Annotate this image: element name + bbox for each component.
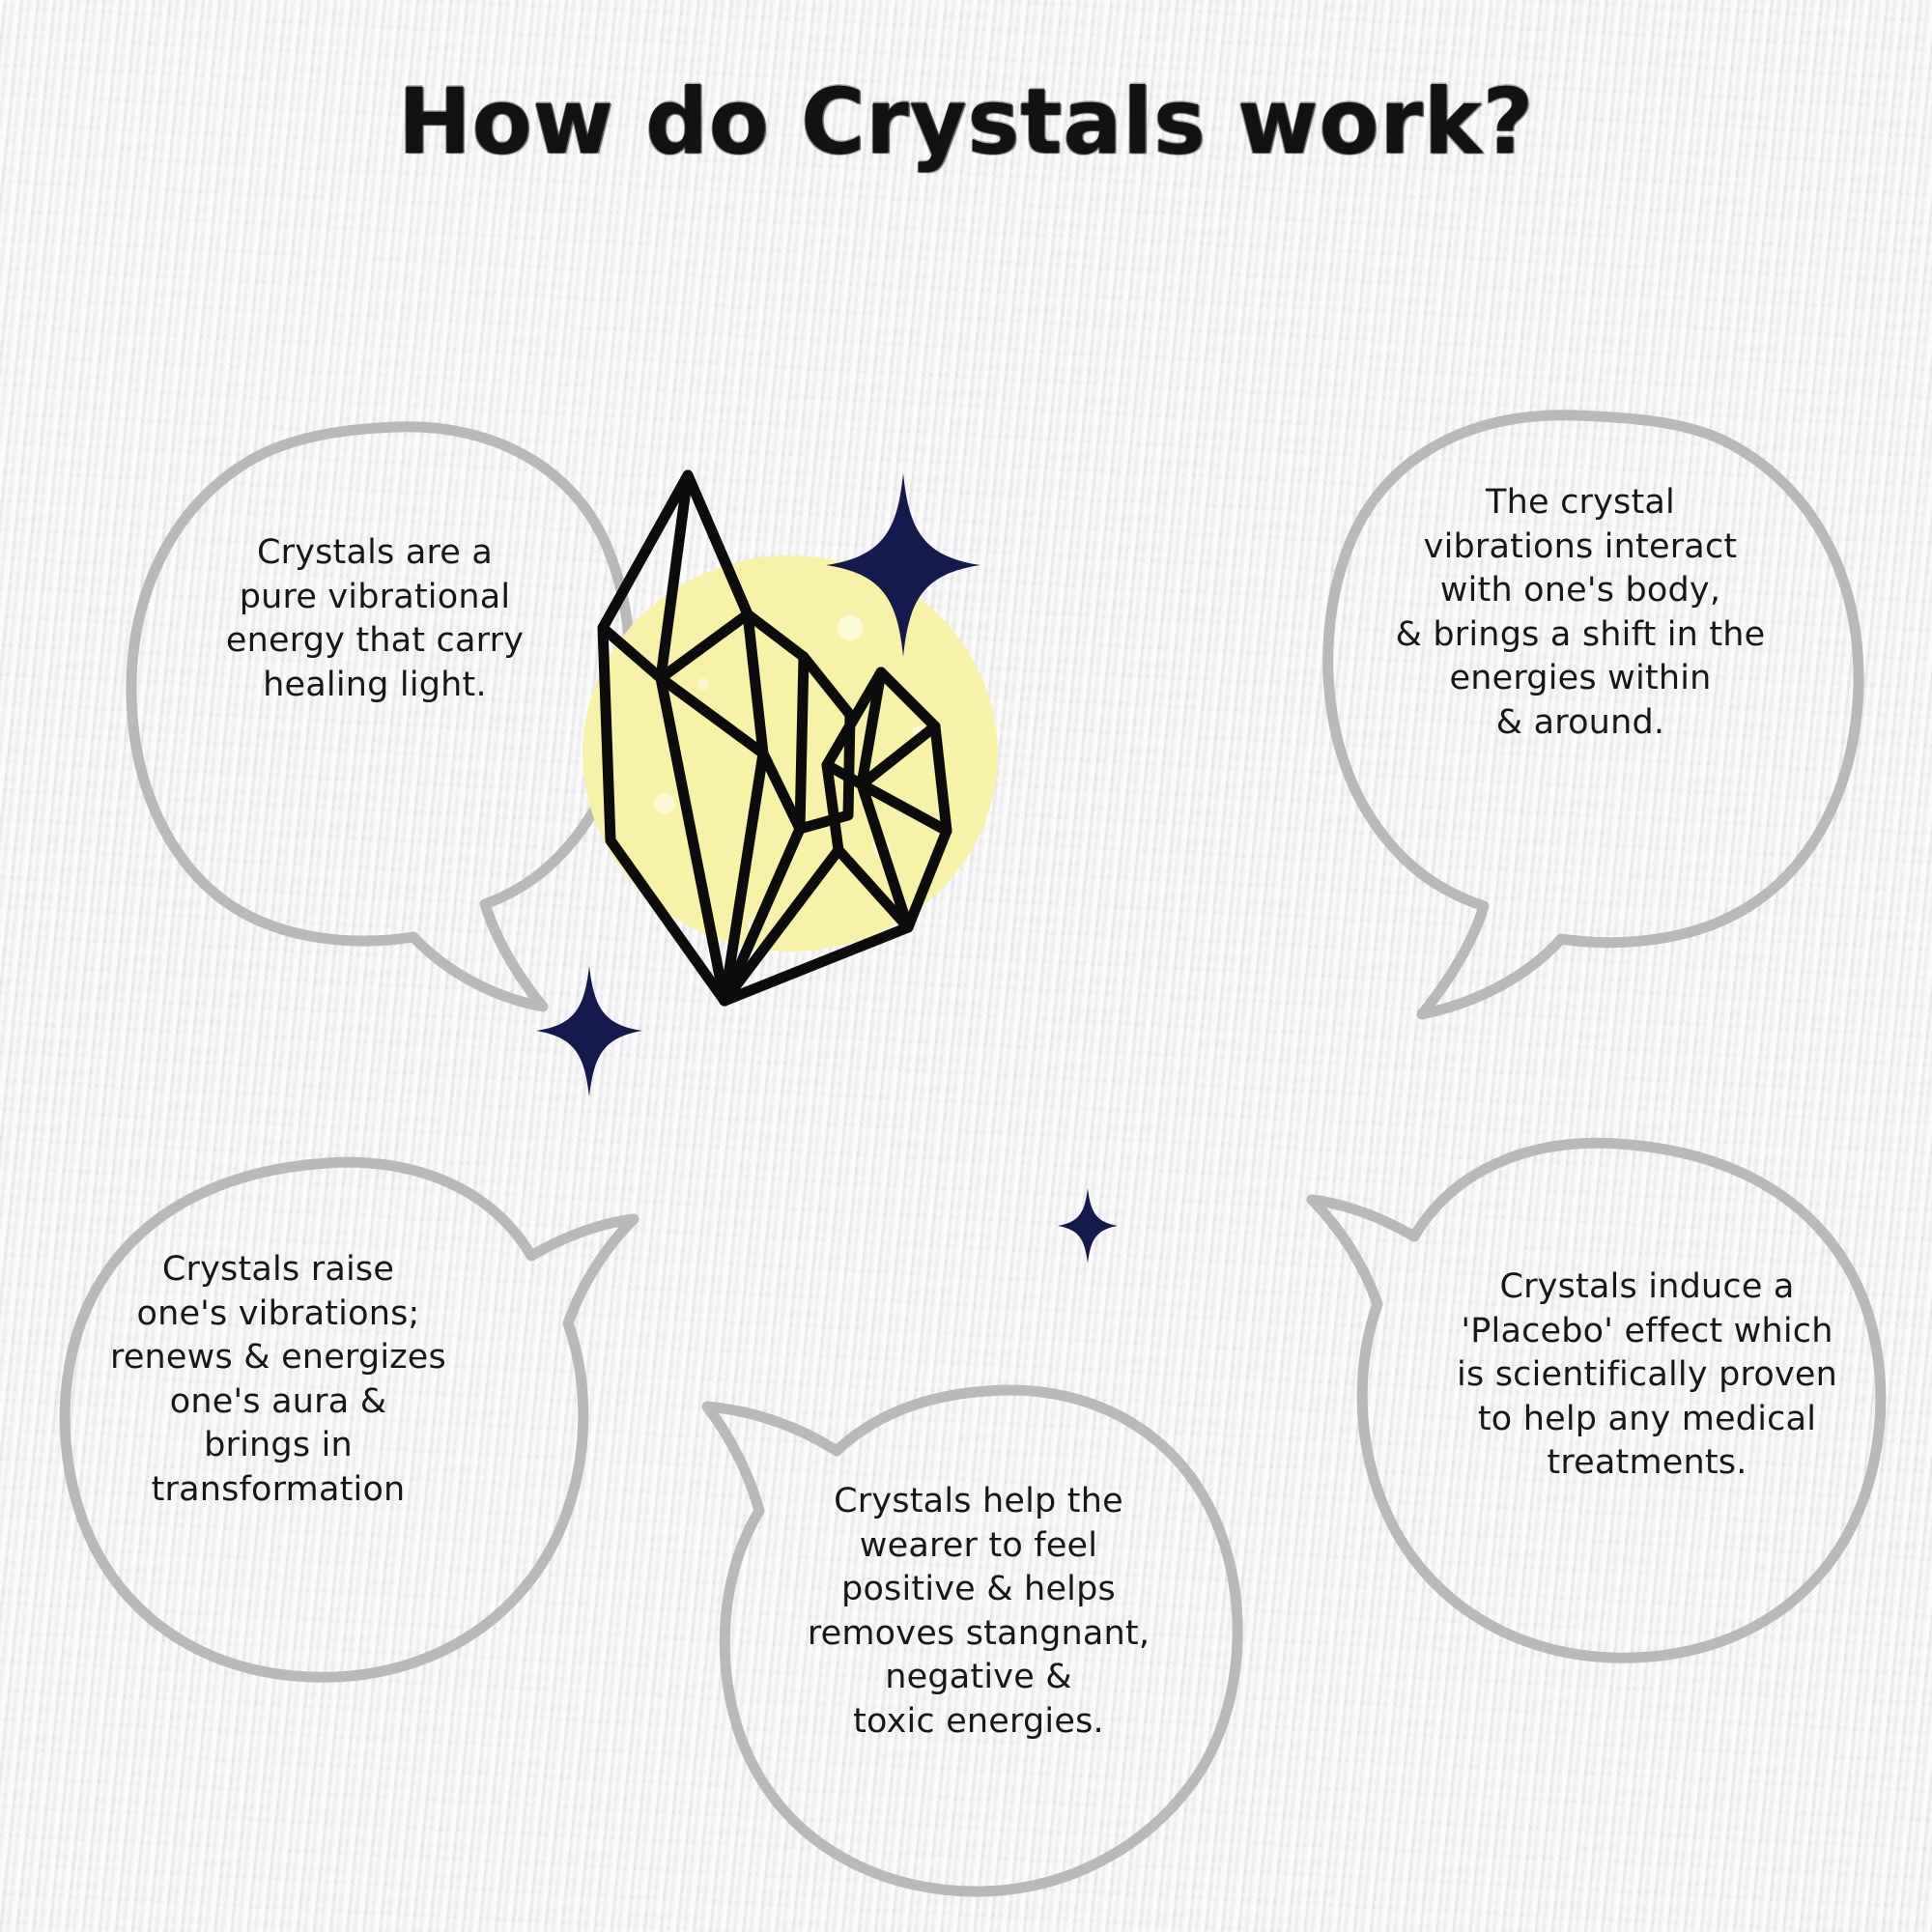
bubble-top-right: The crystal vibrations interact with one… (1285, 396, 1884, 1014)
page-title: How do Crystals work? (39, 75, 1893, 171)
bubble-bottom-left-text: Crystals raise one's vibrations; renews … (75, 1248, 481, 1512)
sparkle-small-bottom-icon (1058, 1188, 1118, 1264)
sparkle-large-right-icon (826, 473, 980, 657)
bubble-bottom-right: Crystals induce a 'Placebo' effect which… (1304, 1121, 1913, 1719)
bubble-bottom-left: Crystals raise one's vibrations; renews … (39, 1140, 638, 1739)
bubble-bottom-right-text: Crystals induce a 'Placebo' effect which… (1406, 1265, 1889, 1486)
sparkle-medium-left-icon (536, 966, 642, 1096)
bubble-bottom-center-text: Crystals help the wearer to feel positiv… (742, 1480, 1215, 1744)
bubble-top-left-text: Crystals are a pure vibrational energy t… (153, 531, 597, 707)
infographic-canvas: How do Crystals work? Crystals are a pur… (0, 0, 1932, 1932)
bubble-top-right-text: The crystal vibrations interact with one… (1339, 481, 1822, 745)
bubble-bottom-center: Crystals help the wearer to feel positiv… (686, 1333, 1285, 1932)
